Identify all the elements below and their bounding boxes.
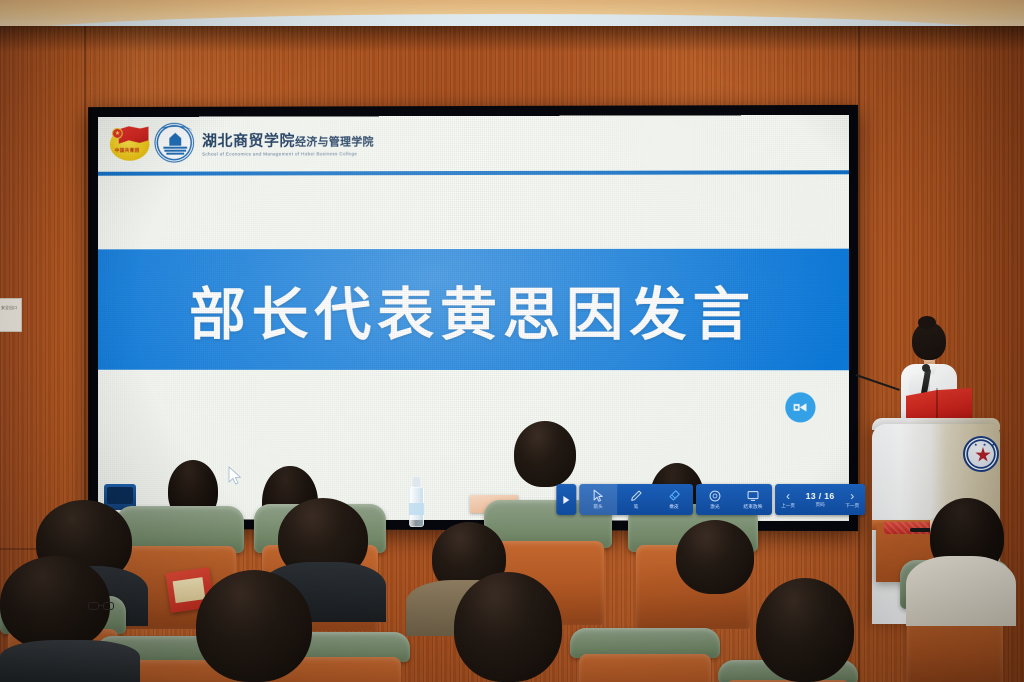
league-badge-text: 中国共青团 [115,148,140,154]
slide-title: 部长代表黄思因发言 [98,268,849,350]
presentation-toolbar[interactable]: 箭头 笔 橡皮 激光 [556,484,868,515]
tool-eraser-label: 橡皮 [669,504,679,510]
audience-shoulders [906,556,1016,626]
auditorium-seat [570,628,720,682]
pen-icon [629,489,643,503]
slide-divider-rule [98,170,849,175]
wall-sign: 安全出口 [0,298,22,332]
slide-school-text: 湖北商贸学院经济与管理学院 School of Economics and Ma… [202,129,374,156]
audience-head [756,578,854,682]
video-play-glyph [791,398,809,416]
audience-head [514,421,576,487]
tool-end-show[interactable]: 结束放映 [734,484,772,515]
tool-pen-label: 笔 [634,504,639,510]
video-play-icon[interactable] [785,392,815,422]
tool-pen[interactable]: 笔 [617,484,655,515]
communist-youth-league-badge-icon: ★ 中国共青团 [108,123,152,163]
slide-title-band: 部长代表黄思因发言 [98,249,849,371]
next-slide-label: 下一页 [845,503,859,509]
water-bottle [409,477,424,527]
school-name-en: School of Economics and Management of Hu… [202,151,374,156]
mouse-cursor-arrow [228,466,242,486]
slide-page-number: 13 / 16 [806,491,835,501]
control-panel-screen [107,487,133,504]
audience-head [676,520,754,594]
tool-pointer[interactable]: 箭头 [579,484,617,515]
podium-crest-icon: ★ ★ ★ [963,436,999,472]
auditorium-presentation-scene: 安全出口 ★ 中国共青团 [0,0,1024,682]
audience-head [454,572,562,682]
tool-eraser[interactable]: 橡皮 [655,484,693,515]
eraser-icon [667,489,681,503]
slide-header: ★ 中国共青团 湖北商贸学院经济与管理学院 S [98,115,849,172]
chevron-left-icon: ‹ [786,490,790,501]
slide-page-label: 页码 [816,502,825,508]
school-name-cn-sub: 经济与管理学院 [295,135,374,148]
tool-laser-label: 激光 [710,504,720,510]
presentation-slide[interactable]: ★ 中国共青团 湖北商贸学院经济与管理学院 S [98,115,849,521]
tool-pointer-label: 箭头 [593,504,603,510]
next-slide-button[interactable]: › 下一页 [842,490,862,508]
school-name-cn-main: 湖北商贸学院 [202,131,295,149]
audience-shoulders [0,640,140,682]
wall-panel-seam [858,26,860,682]
screen-switch-icon [746,489,760,503]
slide-page-indicator: 13 / 16 页码 [798,491,842,508]
annotation-tools-group[interactable]: 箭头 笔 橡皮 [579,484,693,515]
previous-slide-label: 上一页 [781,503,795,509]
tool-laser[interactable]: 激光 [696,484,734,515]
slide-navigation-group[interactable]: ‹ 上一页 13 / 16 页码 › 下一页 [775,484,865,515]
microphone-head [922,364,930,372]
university-seal-icon [154,123,194,163]
cursor-pointer-icon [591,489,605,503]
wall-top-shadow [0,26,1024,52]
wall-sign-label: 安全出口 [0,299,21,310]
play-triangle-icon [563,496,569,504]
school-name-row: 湖北商贸学院经济与管理学院 [202,129,374,150]
audience-head [196,570,312,682]
eyeglasses [88,602,114,610]
previous-slide-button[interactable]: ‹ 上一页 [778,490,798,508]
chevron-right-icon: › [850,490,854,501]
view-tools-group[interactable]: 激光 结束放映 [696,484,772,515]
tool-end-show-label: 结束放映 [743,504,762,510]
folder-spine [936,388,938,422]
laser-pointer-icon [708,489,722,503]
slideshow-play-button[interactable] [556,484,576,515]
slide-logo-group: ★ 中国共青团 湖北商贸学院经济与管理学院 S [108,122,374,163]
